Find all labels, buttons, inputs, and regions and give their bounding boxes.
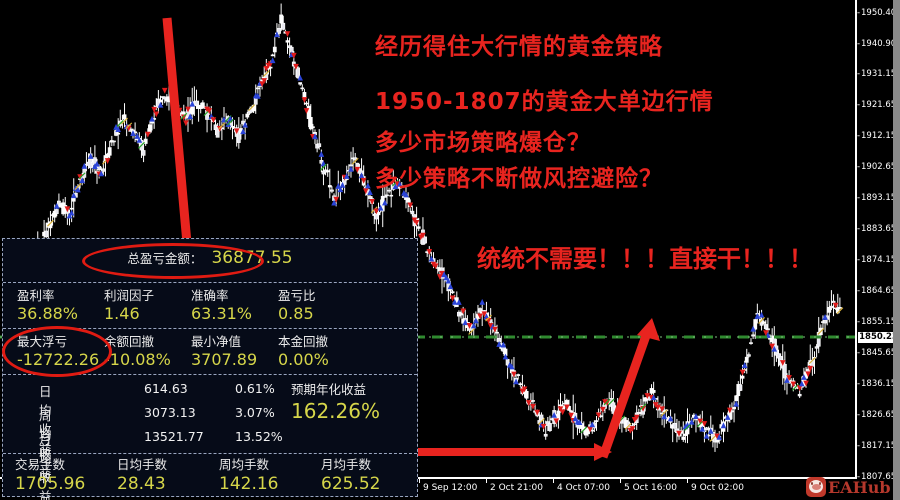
lots-total: 交易手数 1705.96: [15, 456, 85, 495]
lots-weekly: 周均手数 142.16: [219, 456, 278, 495]
lots-value: 625.52: [321, 474, 380, 495]
eahub-watermark: EAHub: [806, 476, 898, 499]
kpi-value: 0.00%: [278, 350, 329, 370]
annotation-question-1: 多少市场策略爆仓？: [375, 123, 591, 157]
total-pnl-label: 总盈亏金额：: [127, 251, 202, 266]
annotation-headline: 经历得住大行情的黄金策略: [375, 27, 663, 61]
kpi-row-2: 最大浮亏 -12722.26 余额回撤 -10.08% 最小净值 3707.89…: [3, 329, 417, 375]
time-tick: 5 Oct 16:00: [624, 483, 677, 493]
annual-return-value: 162.26%: [291, 399, 380, 423]
lots-label: 周均手数: [219, 456, 278, 474]
total-pnl-section: 总盈亏金额： 36877.55: [3, 239, 417, 283]
statistics-panel[interactable]: 总盈亏金额： 36877.55 盈利率 36.88% 利润因子 1.46 准确率…: [2, 238, 418, 497]
time-tick: 9 Oct 02:00: [691, 483, 744, 493]
pig-icon: [806, 477, 826, 497]
annotation-range: 1950-1807的黄金大单边行情: [375, 82, 714, 116]
annotation-conclusion: 统统不需要！！！直接干！！！: [477, 239, 813, 274]
lots-label: 交易手数: [15, 456, 85, 474]
lots-label: 月均手数: [321, 456, 380, 474]
eahub-label: EAHub: [828, 478, 891, 497]
kpi-value: -12722.26: [17, 350, 99, 370]
avg-percent: 3.07%: [235, 405, 275, 420]
total-pnl-value: 36877.55: [211, 248, 292, 268]
kpi-value: 0.85: [278, 304, 316, 324]
lots-value: 28.43: [117, 474, 167, 495]
lots-value: 1705.96: [15, 474, 85, 495]
lots-label: 日均手数: [117, 456, 167, 474]
lots-value: 142.16: [219, 474, 278, 495]
kpi-label: 本金回撤: [278, 333, 329, 350]
lots-daily: 日均手数 28.43: [117, 456, 167, 495]
time-tick: 2 Oct 21:00: [490, 483, 543, 493]
kpi-value: 63.31%: [191, 304, 252, 324]
kpi-label: 盈亏比: [278, 287, 316, 304]
kpi-accuracy: 准确率 63.31%: [191, 287, 252, 324]
kpi-max-floating-loss: 最大浮亏 -12722.26: [17, 333, 99, 370]
kpi-row-1: 盈利率 36.88% 利润因子 1.46 准确率 63.31% 盈亏比 0.85: [3, 283, 417, 329]
kpi-profit-factor: 利润因子 1.46: [104, 287, 154, 324]
kpi-value: -10.08%: [104, 350, 171, 370]
avg-percent: 0.61%: [235, 381, 275, 396]
screenshot-root: -1950.40 -1940.90 -1931.15 -1921.65 -191…: [0, 0, 900, 500]
avg-amount: 13521.77: [144, 429, 204, 444]
kpi-value: 1.46: [104, 304, 154, 324]
total-pnl-row: 总盈亏金额： 36877.55: [3, 248, 417, 268]
avg-percent: 13.52%: [235, 429, 283, 444]
kpi-label: 利润因子: [104, 287, 154, 304]
kpi-balance-drawdown: 余额回撤 -10.08%: [104, 333, 171, 370]
time-tick: 4 Oct 07:00: [557, 483, 610, 493]
lots-monthly: 月均手数 625.52: [321, 456, 380, 495]
kpi-label: 余额回撤: [104, 333, 171, 350]
kpi-label: 最大浮亏: [17, 333, 99, 350]
vertical-scrollbar[interactable]: [893, 0, 900, 500]
time-tick: 9 Sep 12:00: [423, 483, 477, 493]
kpi-min-equity: 最小净值 3707.89: [191, 333, 257, 370]
kpi-label: 准确率: [191, 287, 252, 304]
avg-amount: 614.63: [144, 381, 188, 396]
kpi-label: 最小净值: [191, 333, 257, 350]
annual-return-label: 预期年化收益: [291, 379, 366, 398]
average-returns-section: 日均收益 614.63 0.61% 周均收益 3073.13 3.07% 月均收…: [3, 375, 417, 454]
lot-statistics-section: 交易手数 1705.96 日均手数 28.43 周均手数 142.16 月均手数…: [3, 454, 417, 497]
kpi-value: 36.88%: [17, 304, 78, 324]
kpi-label: 盈利率: [17, 287, 78, 304]
avg-amount: 3073.13: [144, 405, 196, 420]
kpi-value: 3707.89: [191, 350, 257, 370]
annotation-question-2: 多少策略不断做风控避险？: [375, 159, 663, 193]
kpi-profit-loss-ratio: 盈亏比 0.85: [278, 287, 316, 324]
kpi-profit-rate: 盈利率 36.88%: [17, 287, 78, 324]
kpi-principal-drawdown: 本金回撤 0.00%: [278, 333, 329, 370]
